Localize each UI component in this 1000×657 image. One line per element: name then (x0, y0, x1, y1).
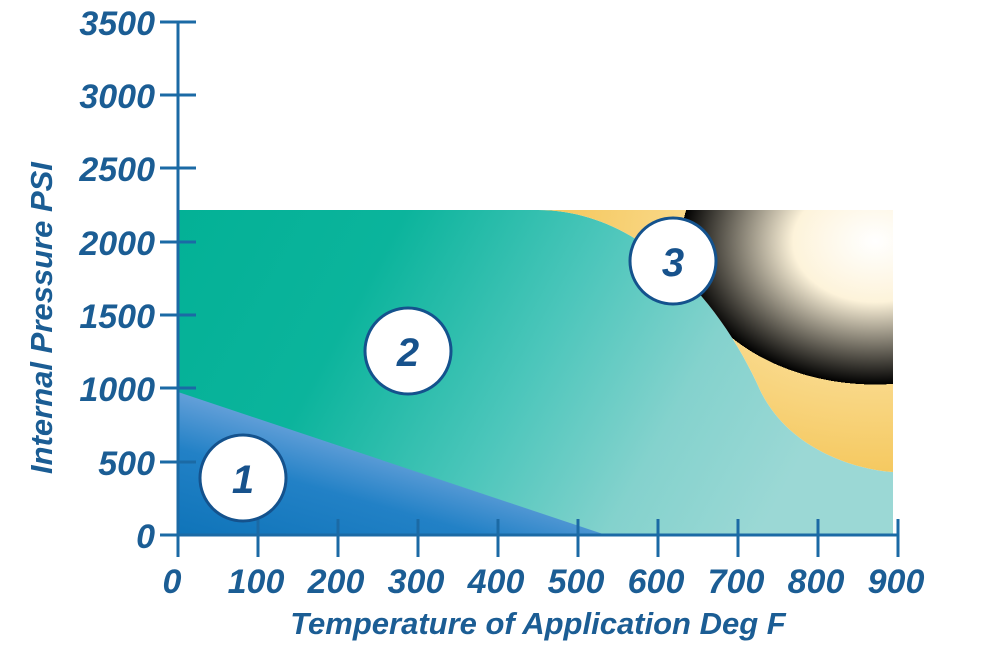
x-tick-label-0: 0 (163, 563, 182, 601)
y-tick-label-0: 0 (136, 518, 155, 556)
chart-container: 3500 3000 2500 2000 1500 1000 500 0 0 10… (0, 0, 1000, 657)
x-tick-label-700: 700 (708, 563, 765, 601)
region-badge-2-label: 2 (396, 331, 419, 375)
x-tick-label-200: 200 (307, 563, 365, 601)
y-tick-label-1000: 1000 (79, 371, 155, 409)
y-tick-label-2500: 2500 (78, 151, 155, 189)
x-tick-label-900: 900 (868, 563, 925, 601)
operating-region-chart: 3500 3000 2500 2000 1500 1000 500 0 0 10… (0, 0, 1000, 657)
region-badge-3-label: 3 (662, 241, 684, 285)
x-tick-label-600: 600 (628, 563, 685, 601)
y-axis-tick-labels: 3500 3000 2500 2000 1500 1000 500 0 (78, 5, 155, 556)
region-badge-1-label: 1 (232, 458, 254, 502)
region-badge-2[interactable]: 2 (365, 308, 451, 394)
region-badge-1[interactable]: 1 (200, 435, 286, 521)
x-tick-label-500: 500 (548, 563, 605, 601)
x-tick-label-400: 400 (467, 563, 525, 601)
x-tick-label-300: 300 (388, 563, 445, 601)
y-tick-label-2000: 2000 (78, 225, 155, 263)
x-tick-label-800: 800 (788, 563, 845, 601)
y-tick-label-1500: 1500 (79, 298, 155, 336)
y-tick-label-3000: 3000 (79, 78, 155, 116)
x-axis-tick-labels: 0 100 200 300 400 500 600 700 800 900 (163, 563, 925, 601)
y-axis-title: Internal Pressure PSI (24, 161, 59, 474)
x-tick-label-100: 100 (228, 563, 285, 601)
y-tick-label-3500: 3500 (79, 5, 155, 43)
y-tick-label-500: 500 (98, 445, 155, 483)
region-badge-3[interactable]: 3 (630, 218, 716, 304)
x-axis-title: Temperature of Application Deg F (290, 606, 787, 641)
